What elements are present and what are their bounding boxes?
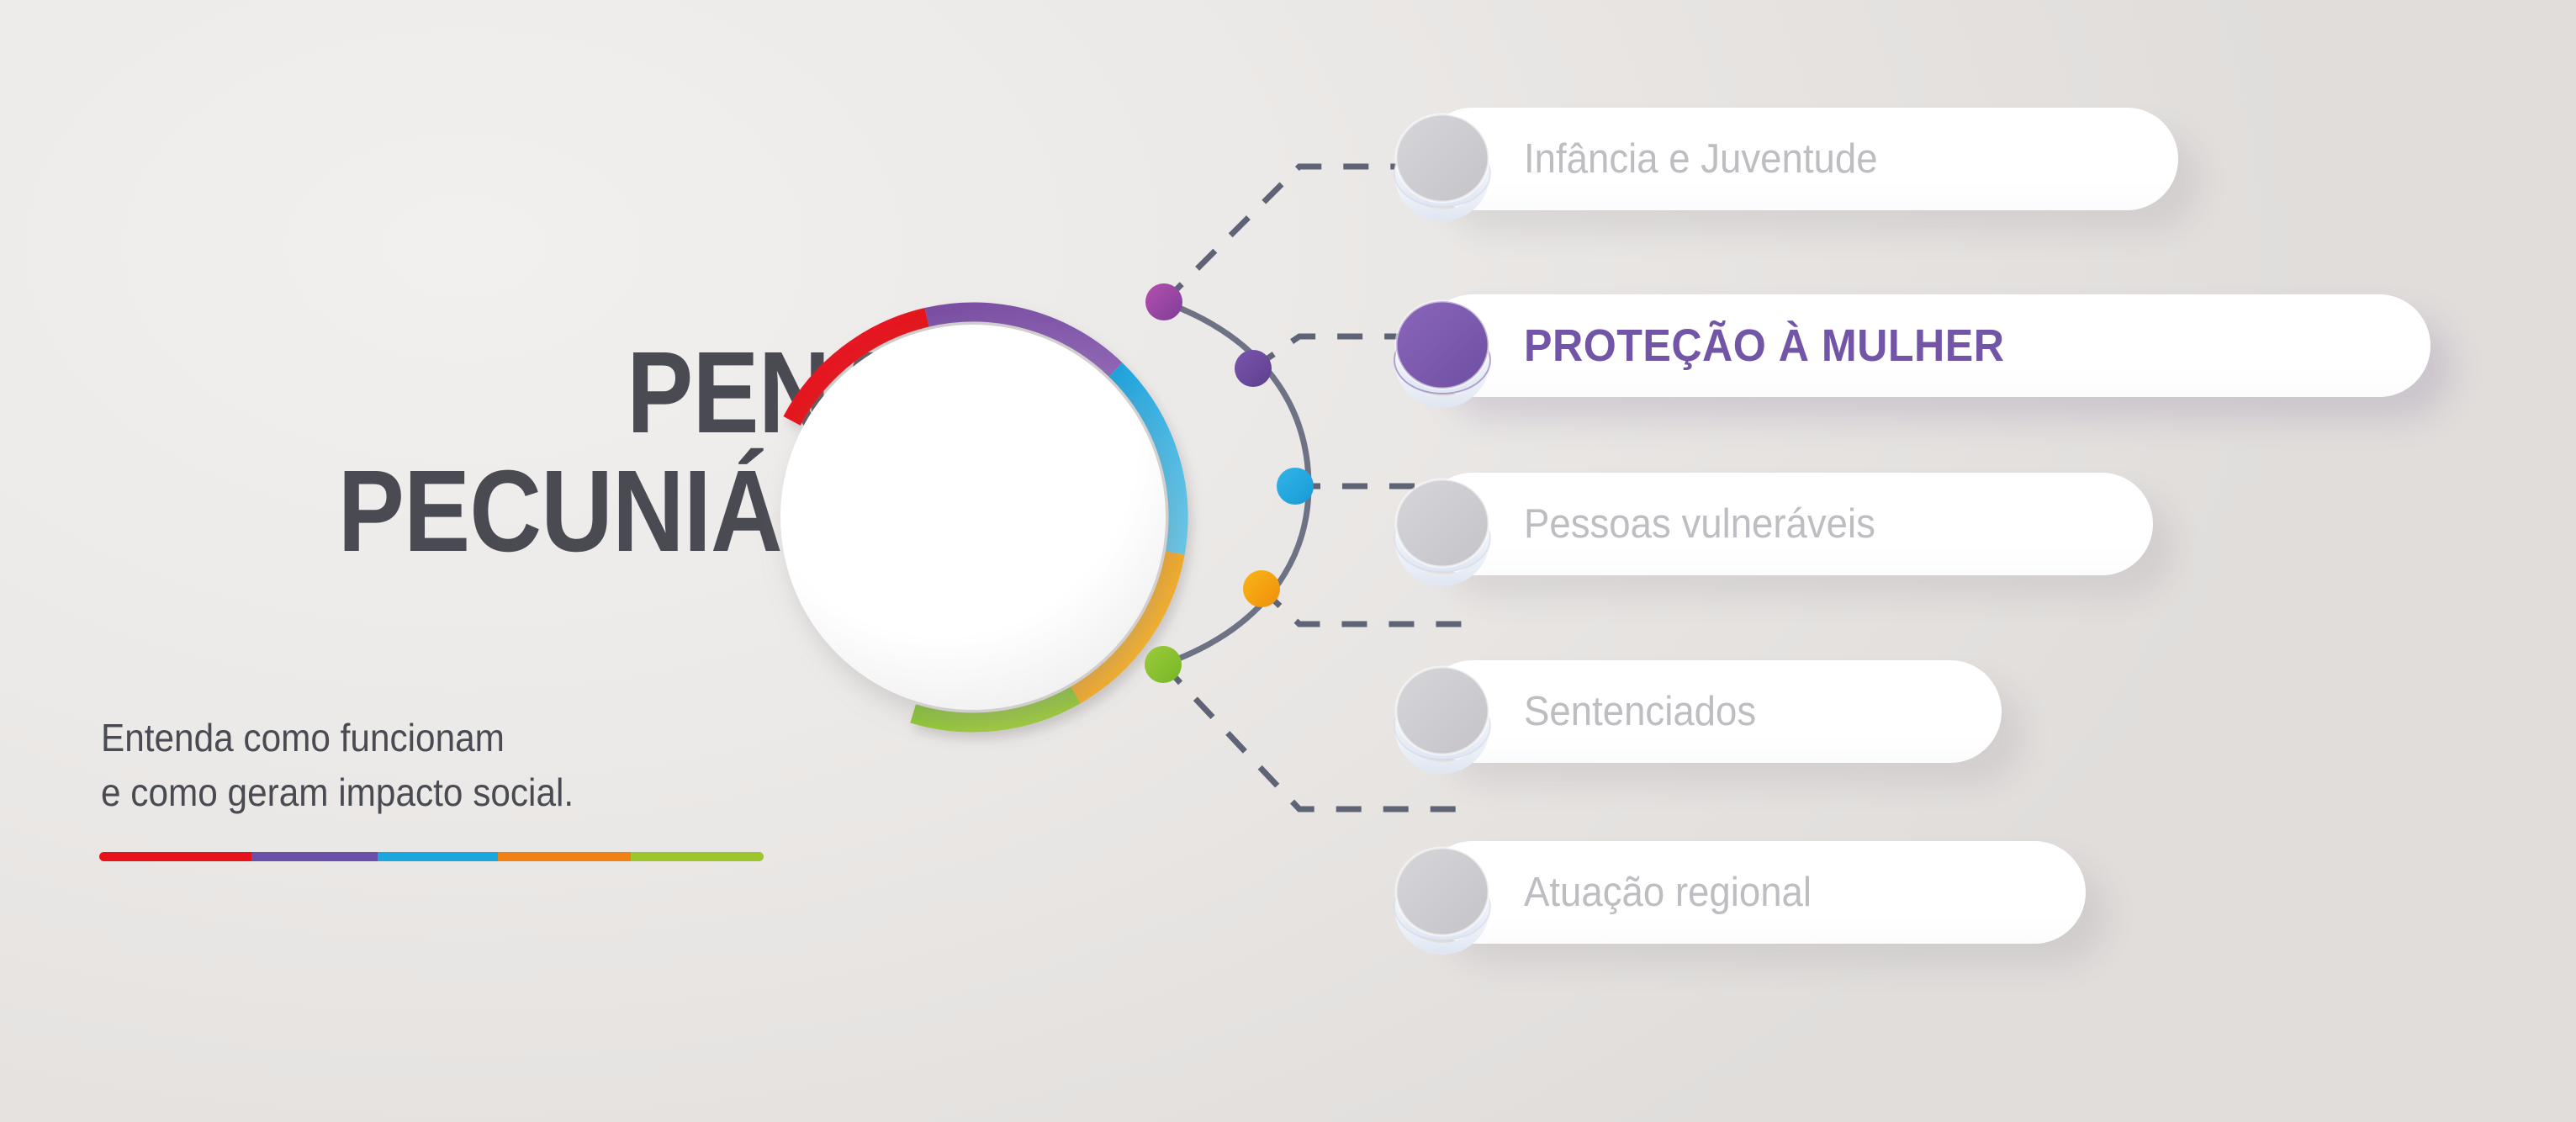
node-sentenciados-dot[interactable]: [1243, 570, 1280, 607]
category-label: Sentenciados: [1524, 688, 1756, 735]
cylinder-badge-icon: [1389, 846, 1495, 952]
category-pill-sentenciados[interactable]: Sentenciados: [1421, 660, 2002, 763]
category-label: Pessoas vulneráveis: [1524, 500, 1875, 548]
subtitle: Entenda como funcionam e como geram impa…: [101, 711, 574, 821]
category-pill-atuacao-regional[interactable]: Atuação regional: [1421, 841, 2086, 944]
node-pessoas-dot[interactable]: [1277, 468, 1314, 505]
infographic-canvas: PENAS PECUNIÁRIAS Entenda como funcionam…: [0, 0, 2576, 1122]
accent-color-bar: [99, 852, 764, 861]
subtitle-line1: Entenda como funcionam: [101, 711, 574, 765]
donut-svg: [740, 278, 1228, 765]
donut-ring-graphic: [740, 278, 1228, 765]
category-pill-protecao-a-mulher[interactable]: PROTEÇÃO À MULHER: [1421, 294, 2431, 397]
accent-segment-blue: [378, 852, 498, 861]
accent-segment-red: [99, 852, 251, 861]
cylinder-badge-icon: [1389, 478, 1495, 584]
subtitle-line2: e como geram impacto social.: [101, 765, 574, 820]
cylinder-badge-icon: [1389, 299, 1495, 405]
accent-segment-green: [631, 852, 764, 861]
cylinder-badge-icon: [1389, 113, 1495, 219]
category-label: PROTEÇÃO À MULHER: [1524, 320, 2004, 372]
node-mulher-dot[interactable]: [1235, 350, 1272, 387]
cylinder-badge-icon: [1389, 665, 1495, 771]
accent-segment-purple: [251, 852, 378, 861]
category-label: Infância e Juventude: [1524, 135, 1878, 183]
category-pill-pessoas-vulneraveis[interactable]: Pessoas vulneráveis: [1421, 473, 2153, 575]
category-pill-infancia-e-juventude[interactable]: Infância e Juventude: [1421, 108, 2178, 210]
accent-segment-orange: [498, 852, 631, 861]
donut-inner-disc: [780, 325, 1166, 710]
category-label: Atuação regional: [1524, 869, 1812, 916]
leader-sentenciados: [1262, 589, 1468, 624]
